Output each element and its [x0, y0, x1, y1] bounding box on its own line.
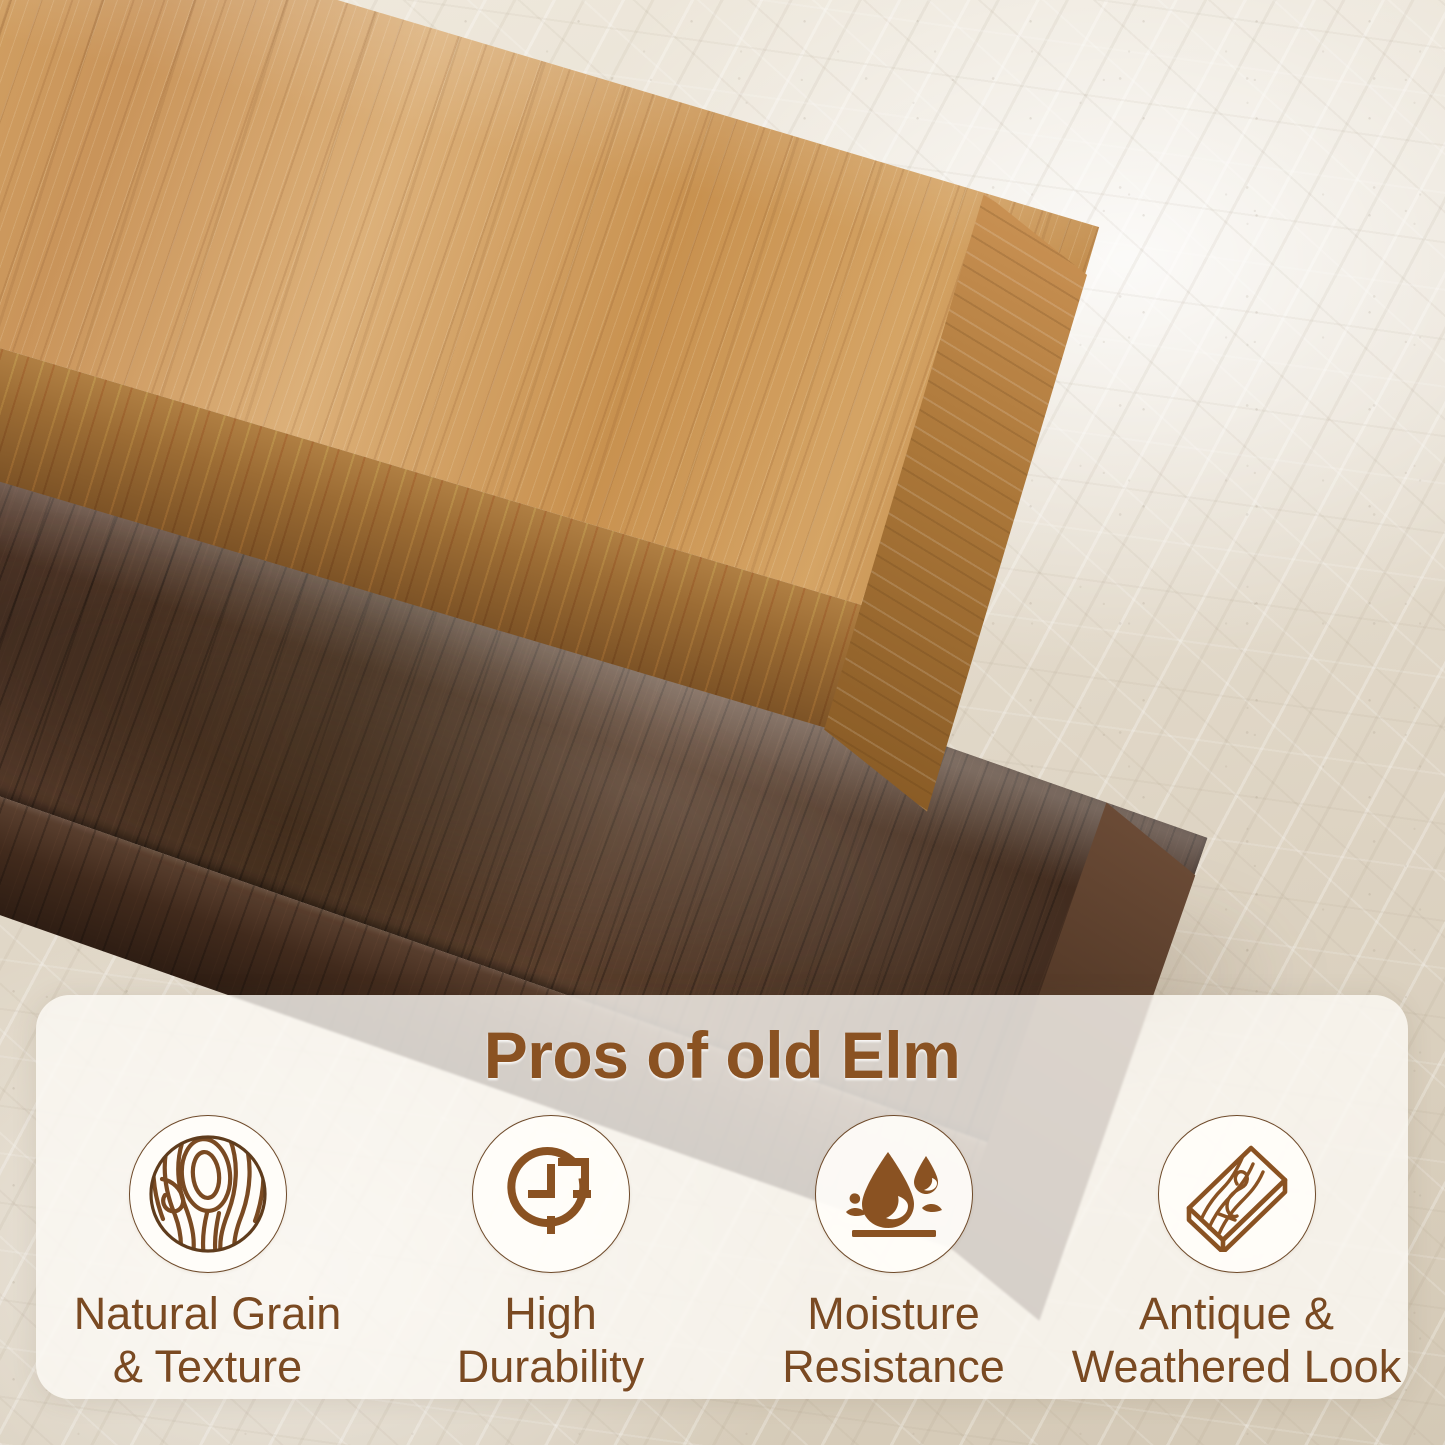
water-droplet-icon — [815, 1115, 973, 1273]
feature-label: Natural Grain & Texture — [74, 1287, 342, 1393]
feature-item: Natural Grain & Texture — [36, 1115, 379, 1393]
feature-list: Natural Grain & Texture High Durability — [36, 1115, 1408, 1393]
feature-label: Antique & Weathered Look — [1072, 1287, 1401, 1393]
feature-panel: Pros of old Elm — [36, 995, 1408, 1399]
feature-label: Moisture Resistance — [782, 1287, 1005, 1393]
wood-plank-icon — [1158, 1115, 1316, 1273]
clock-refresh-icon — [472, 1115, 630, 1273]
feature-item: Moisture Resistance — [722, 1115, 1065, 1393]
feature-item: High Durability — [379, 1115, 722, 1393]
feature-item: Antique & Weathered Look — [1065, 1115, 1408, 1393]
product-image: Pros of old Elm — [0, 0, 1445, 1445]
panel-title: Pros of old Elm — [36, 1017, 1408, 1093]
feature-label: High Durability — [457, 1287, 645, 1393]
wood-grain-icon — [129, 1115, 287, 1273]
